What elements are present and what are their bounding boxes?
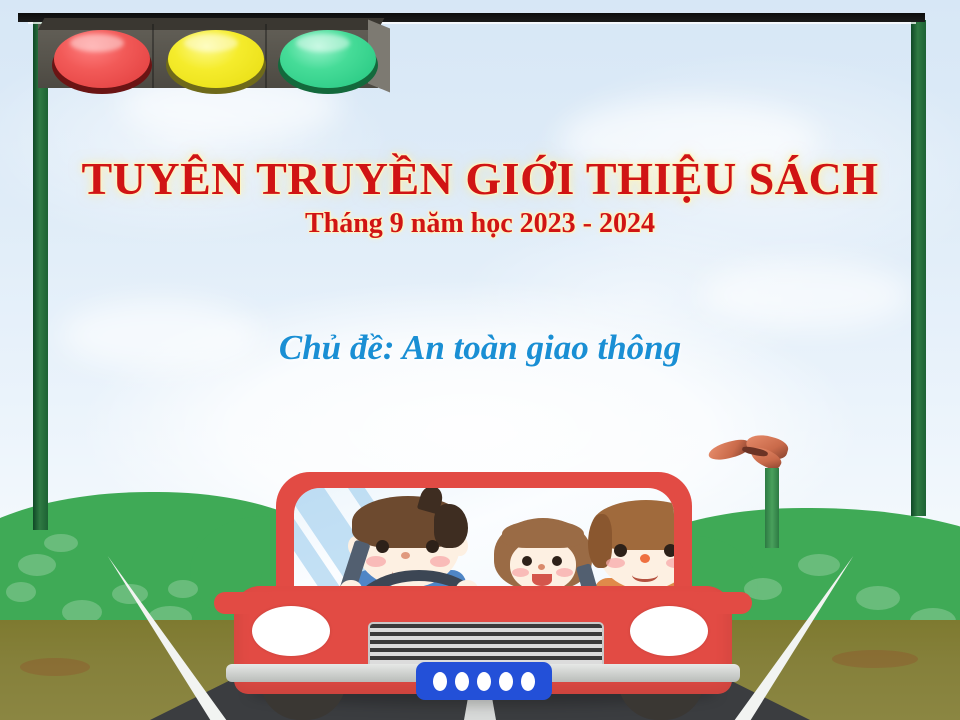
girl-nose [538,564,545,570]
yellow-lamp-gloss [184,34,238,52]
woman-passenger [586,498,674,600]
topic-heading: Chủ đề: An toàn giao thông [0,328,960,368]
traffic-light-divider [265,24,267,88]
girl-mouth [532,574,552,586]
windshield [294,488,674,600]
family-car [218,466,748,720]
cloud-wisp [700,260,910,330]
boy-eye-right [426,540,439,553]
license-plate [416,662,552,700]
headlight-left [252,606,330,656]
traffic-light-top-bevel [38,18,384,30]
girl-cheek-right [556,568,573,577]
traffic-light [38,18,386,98]
boy-cheek-left [366,556,386,567]
plate-dot [433,672,447,691]
traffic-light-pole-right [911,20,926,516]
red-lamp-gloss [70,34,124,52]
boy-eye-left [376,540,389,553]
traffic-light-pole-background [765,468,779,548]
mirror-left [214,592,274,614]
woman-eye-left [614,544,627,557]
woman-eye-right [664,544,674,557]
woman-cheek-left [606,558,625,568]
traffic-light-divider [152,24,154,88]
girl-eye-left [522,556,532,566]
woman-nose [640,554,650,563]
boy-cheek-right [430,556,450,567]
bush-highlight [44,534,78,552]
plate-dot [455,672,469,691]
headlight-right [630,606,708,656]
woman-mouth [632,568,658,582]
green-lamp-gloss [296,34,350,52]
page-subtitle: Tháng 9 năm học 2023 - 2024 [0,208,960,240]
girl-bangs [502,520,584,548]
mirror-right [692,592,752,614]
page-title: TUYÊN TRUYỀN GIỚI THIỆU SÁCH [0,152,960,205]
presentation-slide: TUYÊN TRUYỀN GIỚI THIỆU SÁCH Tháng 9 năm… [0,0,960,720]
boy-nose [401,552,410,559]
plate-dot [499,672,513,691]
plate-dot [477,672,491,691]
girl-cheek-left [512,568,529,577]
boy-hair-side [434,504,468,548]
girl-eye-right [552,556,562,566]
plate-dot [521,672,535,691]
